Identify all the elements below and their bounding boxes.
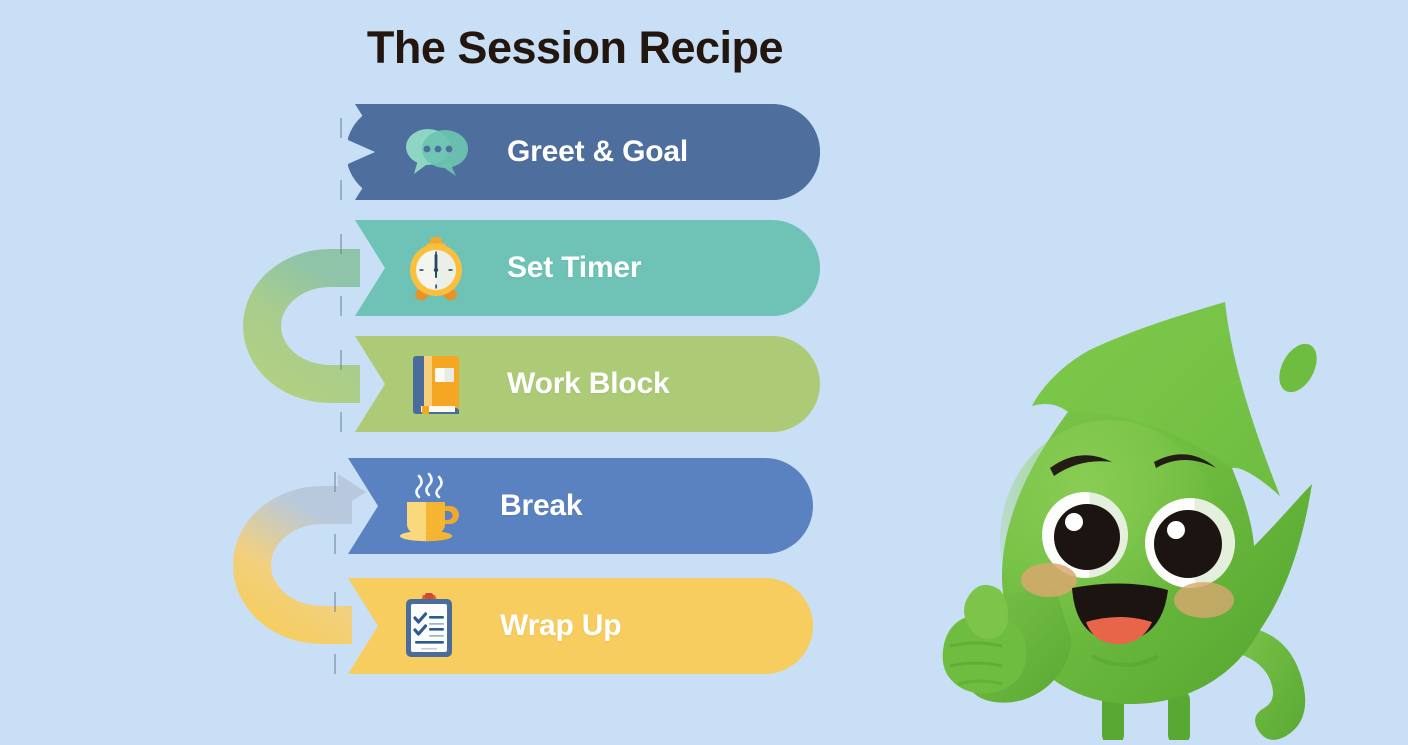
green-leaf-mascot xyxy=(880,290,1380,740)
mascot-cheek-right xyxy=(1174,582,1234,618)
step-tick-mark xyxy=(340,118,342,138)
mascot-thumbs-up-arm xyxy=(943,585,1072,703)
step-label: Wrap Up xyxy=(500,609,621,643)
step-label: Work Block xyxy=(507,367,670,401)
step-label: Set Timer xyxy=(507,251,641,285)
steps-list: Greet & Goal xyxy=(0,0,900,736)
step-tick-mark xyxy=(340,180,342,200)
leaf-chip xyxy=(1272,338,1325,399)
step-item-wrap-up[interactable]: Wrap Up xyxy=(338,578,813,674)
coffee-cup-icon xyxy=(393,470,465,542)
step-label: Greet & Goal xyxy=(507,135,688,169)
step-item-greet-goal[interactable]: Greet & Goal xyxy=(345,104,820,200)
step-item-break[interactable]: Break xyxy=(338,458,813,554)
step-item-set-timer[interactable]: Set Timer xyxy=(345,220,820,316)
clipboard-checklist-icon xyxy=(393,590,465,662)
infographic-canvas: The Session Recipe xyxy=(0,0,1408,736)
mascot-eye-right xyxy=(1145,498,1235,588)
speech-bubbles-icon xyxy=(400,116,472,188)
step-label: Break xyxy=(500,489,582,523)
step-item-work-block[interactable]: Work Block xyxy=(345,336,820,432)
step-tick-mark xyxy=(334,472,336,492)
step-tick-mark xyxy=(340,412,342,432)
step-tick-mark xyxy=(334,654,336,674)
step-tick-mark xyxy=(340,234,342,254)
step-tick-mark xyxy=(334,592,336,612)
mascot-cheek-left xyxy=(1021,563,1077,597)
step-tick-mark xyxy=(340,350,342,370)
step-tick-mark xyxy=(340,296,342,316)
step-tick-mark xyxy=(334,534,336,554)
book-icon xyxy=(400,348,472,420)
alarm-clock-icon xyxy=(400,232,472,304)
